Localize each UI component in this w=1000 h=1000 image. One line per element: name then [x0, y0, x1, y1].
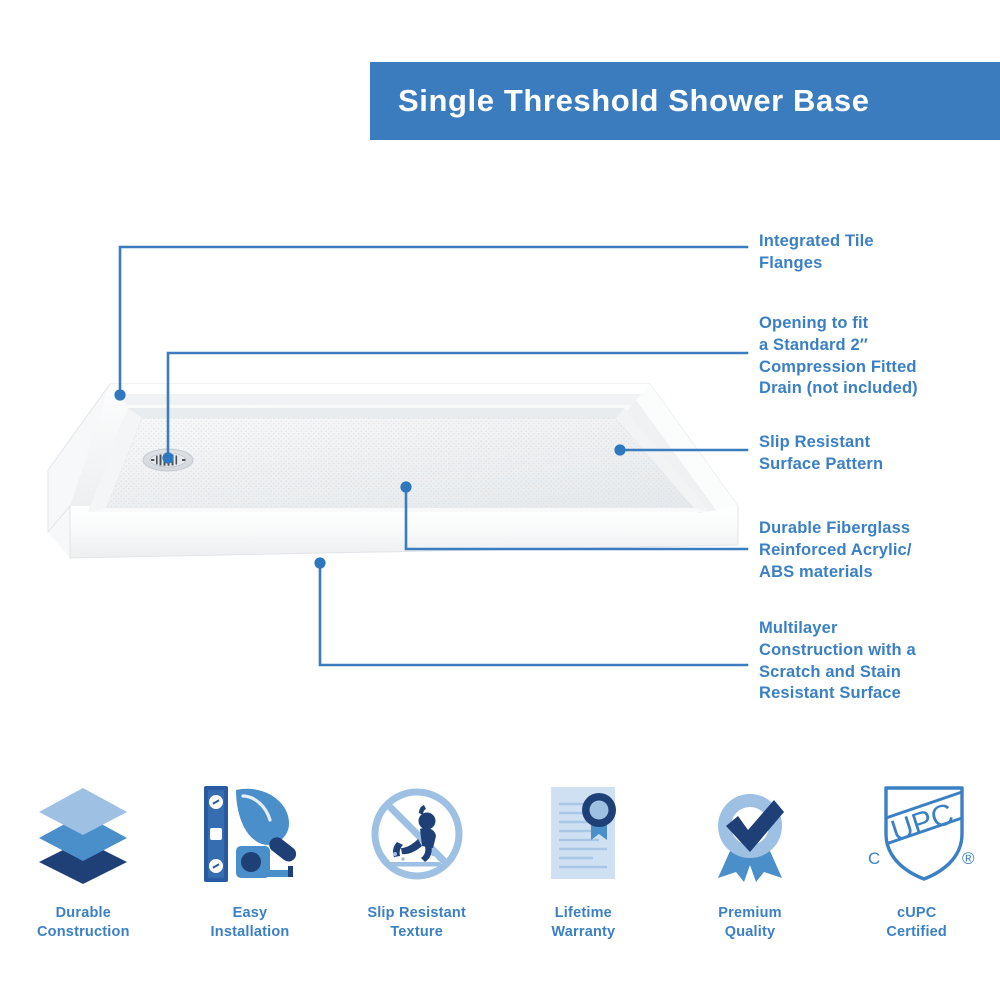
callout-label-integrated-tile-flanges: Integrated Tile Flanges: [759, 231, 874, 275]
header-banner: Single Threshold Shower Base: [370, 62, 1000, 140]
callout-label-slip-resistant-surface: Slip Resistant Surface Pattern: [759, 432, 883, 476]
layers-icon: [29, 778, 137, 890]
feature-label: cUPC Certified: [886, 904, 947, 941]
feature-slip-resistant-texture: Slip Resistant Texture: [333, 778, 500, 978]
product-illustration: [10, 360, 750, 600]
feature-cupc-certified: UPC C ® cUPC Certified: [833, 778, 1000, 978]
level-trowel-icon: [196, 778, 304, 890]
feature-premium-quality: Premium Quality: [667, 778, 834, 978]
no-slip-icon: [363, 778, 471, 890]
cupc-shield-icon: UPC C ®: [858, 778, 976, 890]
page-title: Single Threshold Shower Base: [398, 83, 870, 119]
warranty-document-icon: [529, 778, 637, 890]
feature-lifetime-warranty: Lifetime Warranty: [500, 778, 667, 978]
infographic-canvas: Single Threshold Shower Base: [0, 0, 1000, 1000]
feature-easy-installation: Easy Installation: [167, 778, 334, 978]
feature-label: Durable Construction: [37, 904, 130, 941]
callout-label-drain-opening: Opening to fit a Standard 2″ Compression…: [759, 313, 918, 400]
feature-label: Slip Resistant Texture: [367, 904, 466, 941]
cupc-right-mark: ®: [962, 849, 975, 868]
feature-label: Premium Quality: [718, 904, 781, 941]
callout-label-durable-materials: Durable Fiberglass Reinforced Acrylic/ A…: [759, 518, 912, 583]
feature-label: Lifetime Warranty: [551, 904, 615, 941]
feature-icon-row: Durable Construction: [0, 778, 1000, 978]
cupc-left-mark: C: [868, 849, 880, 868]
feature-durable-construction: Durable Construction: [0, 778, 167, 978]
quality-ribbon-icon: [696, 778, 804, 890]
feature-label: Easy Installation: [211, 904, 290, 941]
callout-label-multilayer-construction: Multilayer Construction with a Scratch a…: [759, 618, 916, 705]
